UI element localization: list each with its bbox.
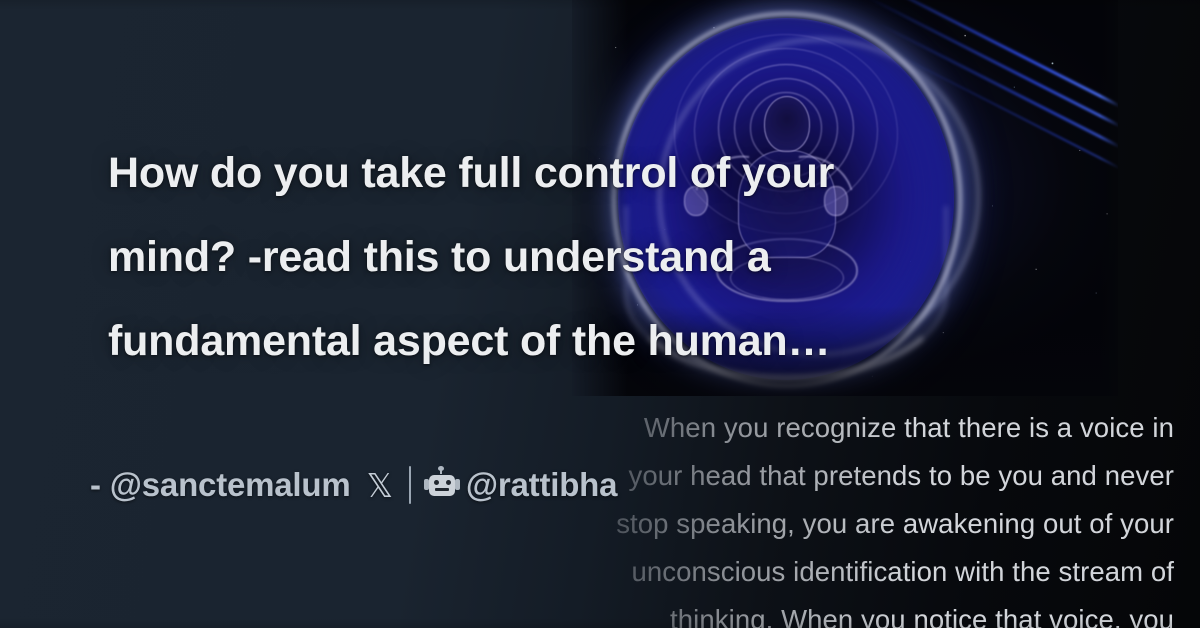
author-handle[interactable]: @sanctemalum bbox=[110, 466, 351, 504]
headline: How do you take full control of your min… bbox=[108, 131, 1118, 383]
quote-line: When you recognize that there is a voice… bbox=[0, 404, 1174, 452]
quote-line: thinking. When you notice that voice, yo… bbox=[0, 596, 1174, 628]
robot-icon bbox=[427, 472, 457, 498]
headline-line: How do you take full control of your bbox=[108, 131, 1118, 215]
headline-line: fundamental aspect of the human… bbox=[108, 299, 1118, 383]
share-card: When you recognize that there is a voice… bbox=[0, 0, 1200, 628]
quote-line: stop speaking, you are awakening out of … bbox=[0, 500, 1174, 548]
quote-line: unconscious identification with the stre… bbox=[0, 548, 1174, 596]
attribution: - @sanctemalum 𝕏 @rattibha bbox=[90, 466, 617, 504]
background-quote: When you recognize that there is a voice… bbox=[0, 404, 1200, 628]
service-handle[interactable]: @rattibha bbox=[466, 466, 617, 504]
headline-line: mind? -read this to understand a bbox=[108, 215, 1118, 299]
attribution-separator bbox=[409, 466, 411, 504]
attribution-dash: - bbox=[90, 466, 101, 504]
x-logo-icon[interactable]: 𝕏 bbox=[367, 469, 393, 502]
